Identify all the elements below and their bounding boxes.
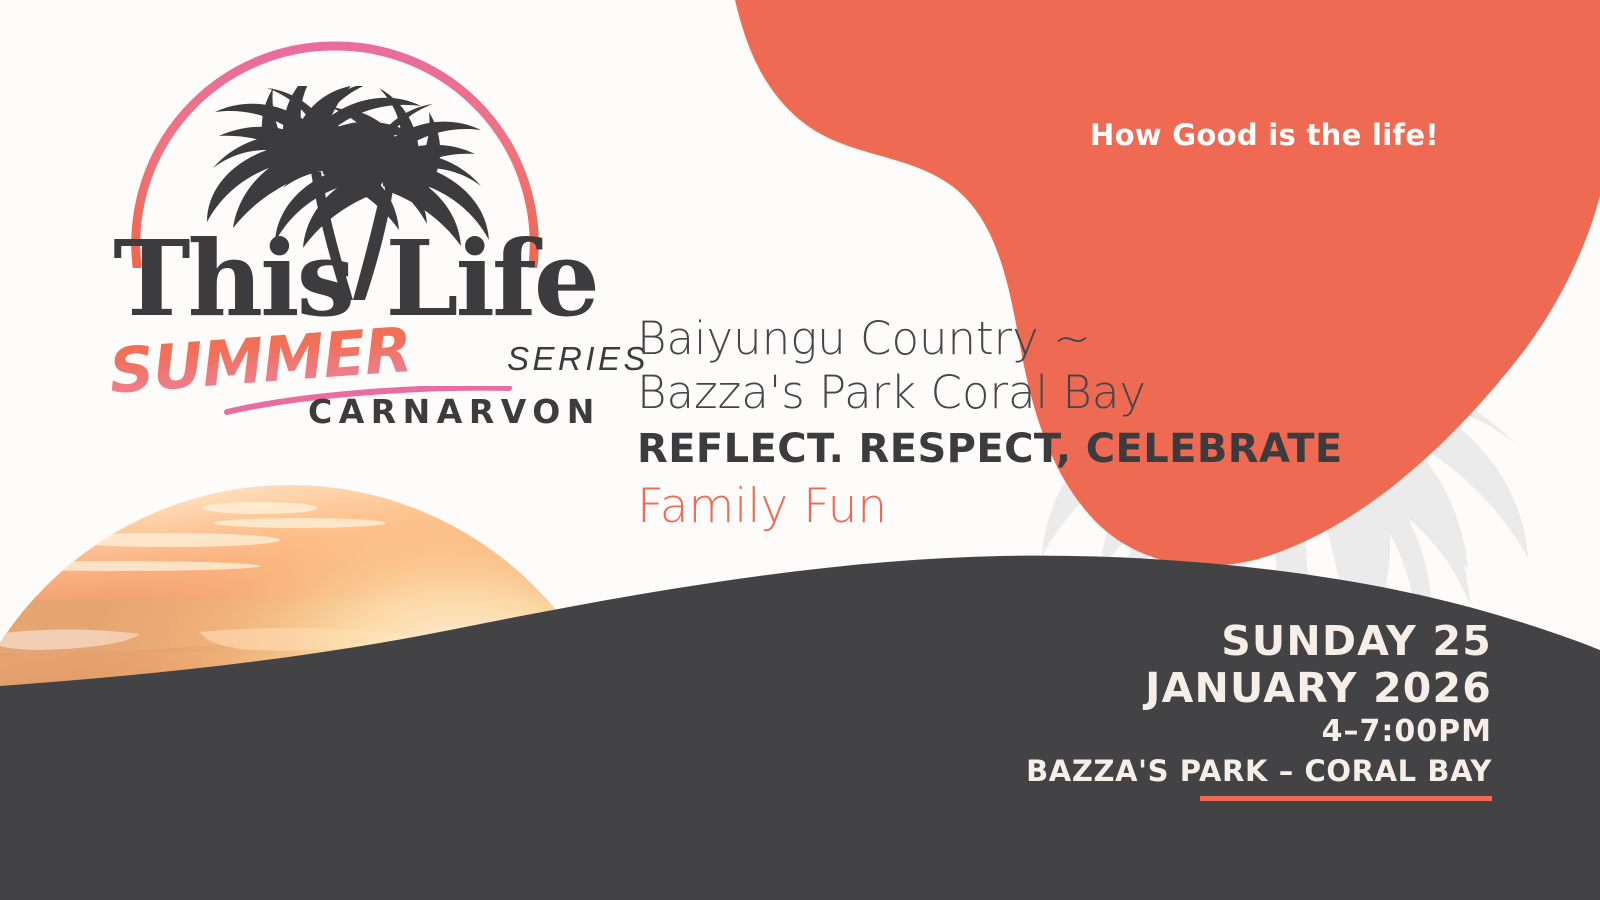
headline-line-country: Baiyungu Country ~ bbox=[637, 312, 1437, 366]
logo-location-label: CARNARVON bbox=[308, 392, 601, 431]
this-life-logo: This Life SUMMER SERIES CARNARVON bbox=[95, 28, 615, 418]
venue-underline bbox=[1200, 796, 1492, 801]
headline-line-family-fun: Family Fun bbox=[637, 478, 1437, 536]
headline-block: Baiyungu Country ~ Bazza's Park Coral Ba… bbox=[637, 312, 1437, 536]
event-month-year: JANUARY 2026 bbox=[832, 665, 1492, 712]
event-time: 4–7:00PM bbox=[832, 712, 1492, 752]
headline-line-values: REFLECT. RESPECT, CELEBRATE bbox=[637, 420, 1437, 478]
event-poster: This Life SUMMER SERIES CARNARVON How Go… bbox=[0, 0, 1600, 900]
event-day: SUNDAY 25 bbox=[832, 618, 1492, 665]
event-venue: BAZZA'S PARK – CORAL BAY bbox=[832, 752, 1492, 790]
logo-series-label: SERIES bbox=[507, 340, 649, 378]
headline-line-venue: Bazza's Park Coral Bay bbox=[637, 366, 1437, 420]
tagline-text: How Good is the life! bbox=[1090, 118, 1439, 152]
event-details-block: SUNDAY 25 JANUARY 2026 4–7:00PM BAZZA'S … bbox=[832, 618, 1492, 801]
